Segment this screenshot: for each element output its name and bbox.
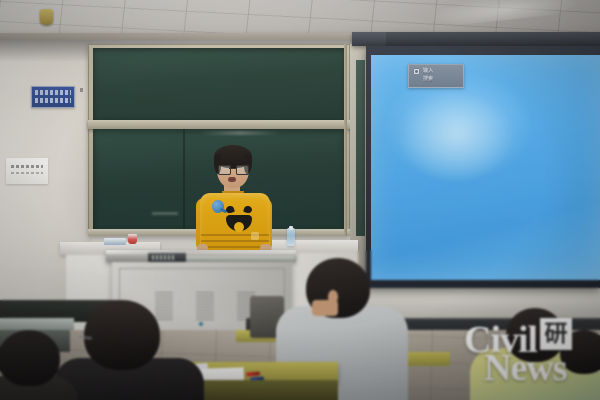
student-center-ear (328, 290, 338, 304)
shirt-stripe (201, 246, 269, 248)
notice-line (11, 165, 43, 168)
projector-hotspot (396, 88, 516, 184)
student-far-left (0, 330, 68, 400)
projector-osd-dialog[interactable]: 输入 搜索 (408, 64, 464, 88)
shirt-small-logo (251, 232, 259, 240)
blackboard-right-edge (344, 44, 347, 236)
shirt-stripe (201, 240, 269, 242)
shirt-graphic-tongue (234, 222, 244, 232)
lectern-slot-label (152, 255, 174, 260)
blackboard-slide-rail (88, 120, 350, 129)
glasses-icon (218, 165, 248, 173)
wall-sign-blue (31, 86, 75, 108)
input-source-icon (413, 68, 420, 75)
glasses-lens-right (236, 165, 249, 175)
sign-line (35, 90, 71, 95)
osd-title: 输入 (423, 68, 433, 75)
blackboard-divider (183, 129, 185, 231)
bottle-cap (289, 226, 293, 230)
osd-subtitle: 搜索 (423, 76, 459, 83)
presenter (198, 146, 274, 256)
screen-housing-cap (352, 32, 386, 46)
blackboard-upper-panel (93, 48, 345, 120)
pillar-board-sliver (356, 60, 365, 236)
projector-screen-housing (352, 32, 600, 46)
student-mid-left (62, 300, 192, 400)
wall-mark-icon (80, 88, 83, 92)
student-head (84, 300, 160, 370)
osd-title-row: 输入 (413, 68, 459, 75)
sign-line (35, 98, 71, 103)
chalk-smudge (200, 131, 280, 135)
glasses-bridge (229, 168, 236, 169)
glasses-lens-left (218, 165, 231, 175)
red-cup-item (128, 234, 137, 244)
blue-box-item (104, 238, 126, 245)
cabinet-lock-icon[interactable] (199, 322, 203, 326)
lecture-hall-photo: 输入 搜索 (0, 0, 600, 400)
presenter-mouth (228, 177, 236, 182)
notice-line (11, 172, 43, 174)
student-head (0, 330, 60, 386)
student-far-right (556, 330, 600, 400)
chalk-smudge (152, 212, 178, 215)
lectern-top-highlight (106, 250, 296, 254)
cabinet-vent (196, 292, 214, 322)
wall-notice-white (6, 158, 48, 184)
water-bottle-item (287, 228, 295, 246)
student-head (560, 330, 600, 374)
ceiling-speaker-icon (40, 9, 53, 25)
